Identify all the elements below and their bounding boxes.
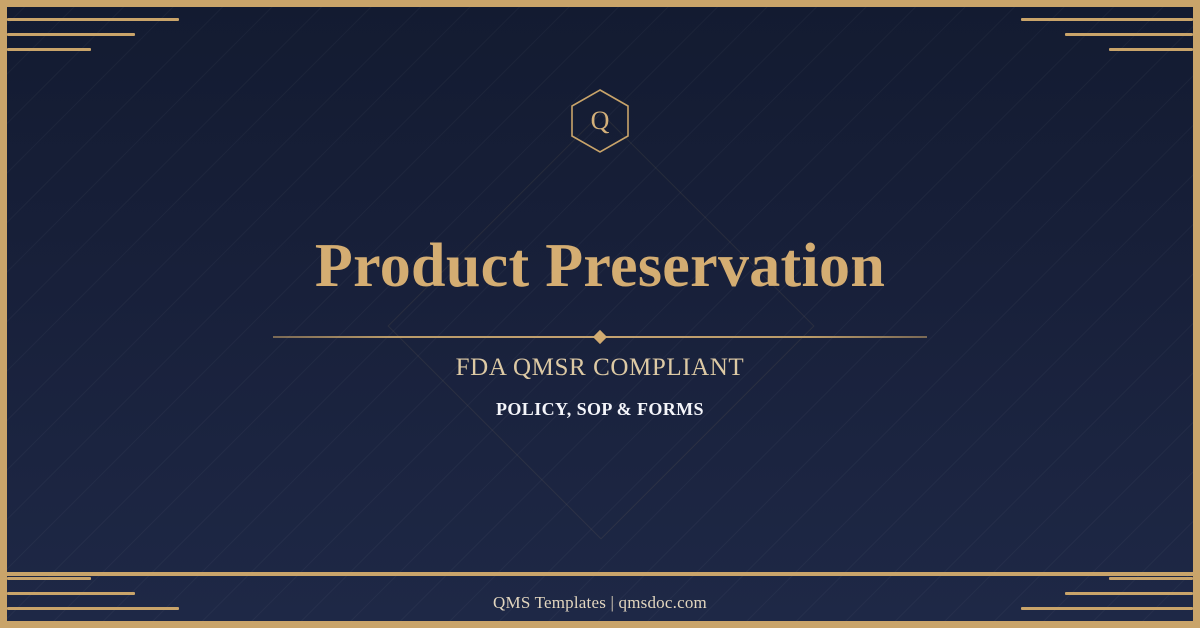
page-title: Product Preservation [7,234,1193,299]
ornament-line [7,577,91,580]
brand-logo: Q [569,88,631,154]
diamond-icon [593,330,607,344]
logo-letter: Q [569,88,631,154]
diamond-watermark [387,112,814,539]
title-divider [273,332,927,342]
corner-ornament-top-left [7,18,179,51]
ornament-line [1021,18,1193,21]
footer-attribution: QMS Templates | qmsdoc.com [7,593,1193,613]
ornament-line [1109,577,1193,580]
ornament-line [7,18,179,21]
subtitle: FDA QMSR COMPLIANT [7,354,1193,382]
corner-ornament-top-right [1021,18,1193,51]
slide-panel: Q Product Preservation FDA QMSR COMPLIAN… [7,7,1193,621]
ornament-line [7,48,91,51]
ornament-line [7,33,135,36]
ornament-line [1065,33,1193,36]
footer-divider [7,572,1193,576]
ornament-line [1109,48,1193,51]
document-types-label: POLICY, SOP & FORMS [7,399,1193,420]
title-slide: Q Product Preservation FDA QMSR COMPLIAN… [0,0,1200,628]
